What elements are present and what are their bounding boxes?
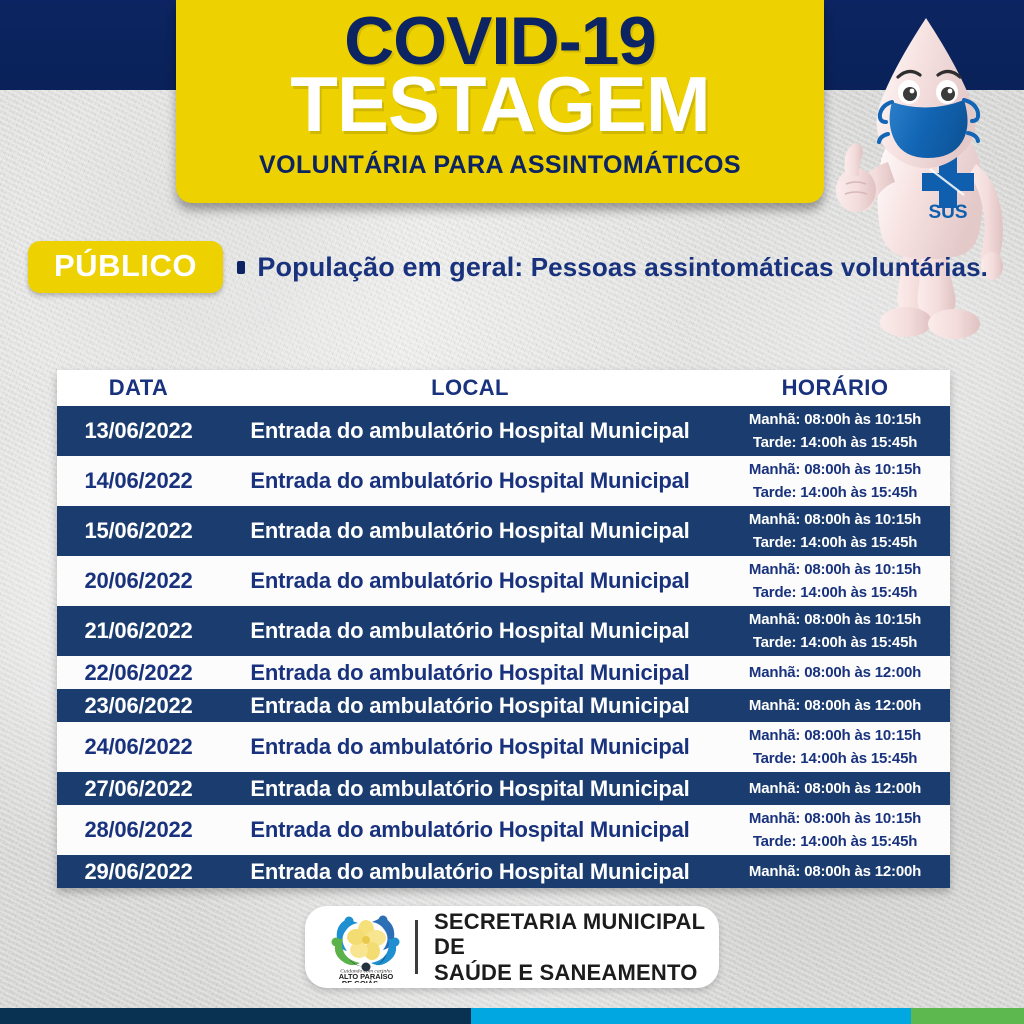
cell-date: 13/06/2022 xyxy=(57,406,220,456)
logo-illustration: Cuidando com carinho ALTO PARAÍSO DE GOI… xyxy=(323,911,409,983)
cell-date: 22/06/2022 xyxy=(57,656,220,689)
footer-divider xyxy=(415,920,418,974)
poster-root: COVID-19 TESTAGEM VOLUNTÁRIA PARA ASSINT… xyxy=(0,0,1024,1024)
schedule-table: DATA LOCAL HORÁRIO 13/06/2022Entrada do … xyxy=(57,370,950,888)
cell-date: 29/06/2022 xyxy=(57,855,220,888)
public-description: População em geral: Pessoas assintomátic… xyxy=(257,252,988,283)
table-row: 15/06/2022Entrada do ambulatório Hospita… xyxy=(57,506,950,556)
column-header-date: DATA xyxy=(57,370,220,406)
cell-horario: Manhã: 08:00h às 10:15hTarde: 14:00h às … xyxy=(720,456,950,506)
logo-state-text: DE GOIÁS xyxy=(342,979,378,983)
footer-line-1: SECRETARIA MUNICIPAL DE xyxy=(434,909,719,960)
table-row: 22/06/2022Entrada do ambulatório Hospita… xyxy=(57,656,950,689)
public-section: PÚBLICO População em geral: Pessoas assi… xyxy=(28,238,988,296)
time-line: Manhã: 08:00h às 10:15h xyxy=(749,508,921,531)
cell-local: Entrada do ambulatório Hospital Municipa… xyxy=(220,456,720,506)
cell-local: Entrada do ambulatório Hospital Municipa… xyxy=(220,406,720,456)
bottom-color-bar xyxy=(0,1008,1024,1024)
table-row: 27/06/2022Entrada do ambulatório Hospita… xyxy=(57,772,950,805)
bottom-bar-blue xyxy=(471,1008,911,1024)
cell-horario: Manhã: 08:00h às 12:00h xyxy=(720,689,950,722)
public-description-normal: Pessoas assintomáticas voluntárias. xyxy=(523,252,988,282)
table-row: 20/06/2022Entrada do ambulatório Hospita… xyxy=(57,556,950,606)
time-line: Tarde: 14:00h às 15:45h xyxy=(753,830,917,853)
table-row: 13/06/2022Entrada do ambulatório Hospita… xyxy=(57,406,950,456)
title-covid: COVID-19 xyxy=(170,0,831,70)
cell-local: Entrada do ambulatório Hospital Municipa… xyxy=(220,805,720,855)
title-testagem: TESTAGEM xyxy=(176,70,824,139)
title-banner: COVID-19 TESTAGEM VOLUNTÁRIA PARA ASSINT… xyxy=(176,0,824,203)
cell-date: 15/06/2022 xyxy=(57,506,220,556)
table-row: 21/06/2022Entrada do ambulatório Hospita… xyxy=(57,606,950,656)
public-dash-icon xyxy=(237,261,245,274)
bottom-bar-dark xyxy=(0,1008,471,1024)
table-row: 14/06/2022Entrada do ambulatório Hospita… xyxy=(57,456,950,506)
cell-local: Entrada do ambulatório Hospital Municipa… xyxy=(220,506,720,556)
column-header-horario: HORÁRIO xyxy=(720,370,950,406)
time-line: Tarde: 14:00h às 15:45h xyxy=(753,747,917,770)
cell-horario: Manhã: 08:00h às 12:00h xyxy=(720,772,950,805)
table-row: 24/06/2022Entrada do ambulatório Hospita… xyxy=(57,722,950,772)
cell-date: 14/06/2022 xyxy=(57,456,220,506)
time-line: Tarde: 14:00h às 15:45h xyxy=(753,431,917,454)
alto-paraiso-logo: Cuidando com carinho ALTO PARAÍSO DE GOI… xyxy=(323,911,409,983)
time-line: Manhã: 08:00h às 12:00h xyxy=(749,694,921,717)
cell-date: 21/06/2022 xyxy=(57,606,220,656)
time-line: Tarde: 14:00h às 15:45h xyxy=(753,481,917,504)
time-line: Tarde: 14:00h às 15:45h xyxy=(753,631,917,654)
footer-logo-bar: Cuidando com carinho ALTO PARAÍSO DE GOI… xyxy=(305,906,719,988)
cell-date: 27/06/2022 xyxy=(57,772,220,805)
time-line: Manhã: 08:00h às 10:15h xyxy=(749,558,921,581)
time-line: Manhã: 08:00h às 10:15h xyxy=(749,608,921,631)
table-row: 29/06/2022Entrada do ambulatório Hospita… xyxy=(57,855,950,888)
public-chip-label: PÚBLICO xyxy=(28,241,223,293)
footer-text: SECRETARIA MUNICIPAL DE SAÚDE E SANEAMEN… xyxy=(434,909,719,986)
footer-line-2: SAÚDE E SANEAMENTO xyxy=(434,960,719,986)
bottom-bar-green xyxy=(911,1008,1024,1024)
svg-text:SUS: SUS xyxy=(928,202,967,223)
cell-horario: Manhã: 08:00h às 12:00h xyxy=(720,656,950,689)
cell-horario: Manhã: 08:00h às 10:15hTarde: 14:00h às … xyxy=(720,606,950,656)
table-row: 28/06/2022Entrada do ambulatório Hospita… xyxy=(57,805,950,855)
ze-gotinha-mascot: SUS xyxy=(826,4,1022,352)
cell-date: 23/06/2022 xyxy=(57,689,220,722)
time-line: Manhã: 08:00h às 12:00h xyxy=(749,661,921,684)
cell-local: Entrada do ambulatório Hospital Municipa… xyxy=(220,656,720,689)
cell-horario: Manhã: 08:00h às 12:00h xyxy=(720,855,950,888)
public-description-bold: População em geral: xyxy=(257,252,523,282)
time-line: Manhã: 08:00h às 12:00h xyxy=(749,777,921,800)
cell-local: Entrada do ambulatório Hospital Municipa… xyxy=(220,722,720,772)
time-line: Manhã: 08:00h às 10:15h xyxy=(749,807,921,830)
time-line: Manhã: 08:00h às 10:15h xyxy=(749,724,921,747)
cell-local: Entrada do ambulatório Hospital Municipa… xyxy=(220,606,720,656)
cell-local: Entrada do ambulatório Hospital Municipa… xyxy=(220,689,720,722)
cell-horario: Manhã: 08:00h às 10:15hTarde: 14:00h às … xyxy=(720,722,950,772)
cell-horario: Manhã: 08:00h às 10:15hTarde: 14:00h às … xyxy=(720,556,950,606)
time-line: Manhã: 08:00h às 12:00h xyxy=(749,860,921,883)
time-line: Tarde: 14:00h às 15:45h xyxy=(753,581,917,604)
table-header-row: DATA LOCAL HORÁRIO xyxy=(57,370,950,406)
cell-horario: Manhã: 08:00h às 10:15hTarde: 14:00h às … xyxy=(720,406,950,456)
cell-horario: Manhã: 08:00h às 10:15hTarde: 14:00h às … xyxy=(720,506,950,556)
time-line: Manhã: 08:00h às 10:15h xyxy=(749,458,921,481)
time-line: Manhã: 08:00h às 10:15h xyxy=(749,408,921,431)
cell-date: 20/06/2022 xyxy=(57,556,220,606)
cell-date: 24/06/2022 xyxy=(57,722,220,772)
cell-horario: Manhã: 08:00h às 10:15hTarde: 14:00h às … xyxy=(720,805,950,855)
cell-local: Entrada do ambulatório Hospital Municipa… xyxy=(220,772,720,805)
mascot-illustration: SUS xyxy=(826,4,1022,352)
table-row: 23/06/2022Entrada do ambulatório Hospita… xyxy=(57,689,950,722)
column-header-local: LOCAL xyxy=(220,370,720,406)
cell-local: Entrada do ambulatório Hospital Municipa… xyxy=(220,556,720,606)
cell-local: Entrada do ambulatório Hospital Municipa… xyxy=(220,855,720,888)
time-line: Tarde: 14:00h às 15:45h xyxy=(753,531,917,554)
cell-date: 28/06/2022 xyxy=(57,805,220,855)
